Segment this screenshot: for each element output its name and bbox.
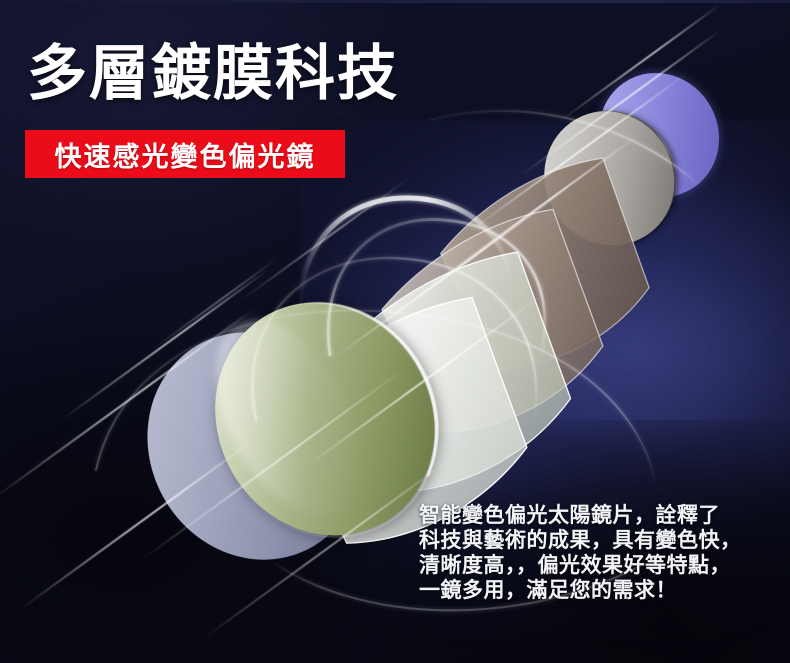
tagline-badge: 快速感光變色偏光鏡	[25, 130, 345, 178]
description-line: 清晰度高，，偏光效果好等特點，	[419, 553, 742, 578]
promo-banner: 多層鍍膜科技 快速感光變色偏光鏡 智能變色偏光太陽鏡片，詮釋了 科技與藝術的成果…	[0, 0, 790, 663]
product-description: 智能變色偏光太陽鏡片，詮釋了 科技與藝術的成果，具有變色快， 清晰度高，，偏光效…	[419, 503, 742, 603]
tagline-badge-label: 快速感光變色偏光鏡	[55, 135, 316, 174]
description-line: 智能變色偏光太陽鏡片，詮釋了	[419, 503, 742, 528]
page-title: 多層鍍膜科技	[27, 42, 399, 107]
description-line: 一鏡多用，滿足您的需求！	[419, 578, 742, 603]
description-line: 科技與藝術的成果，具有變色快，	[419, 528, 742, 553]
